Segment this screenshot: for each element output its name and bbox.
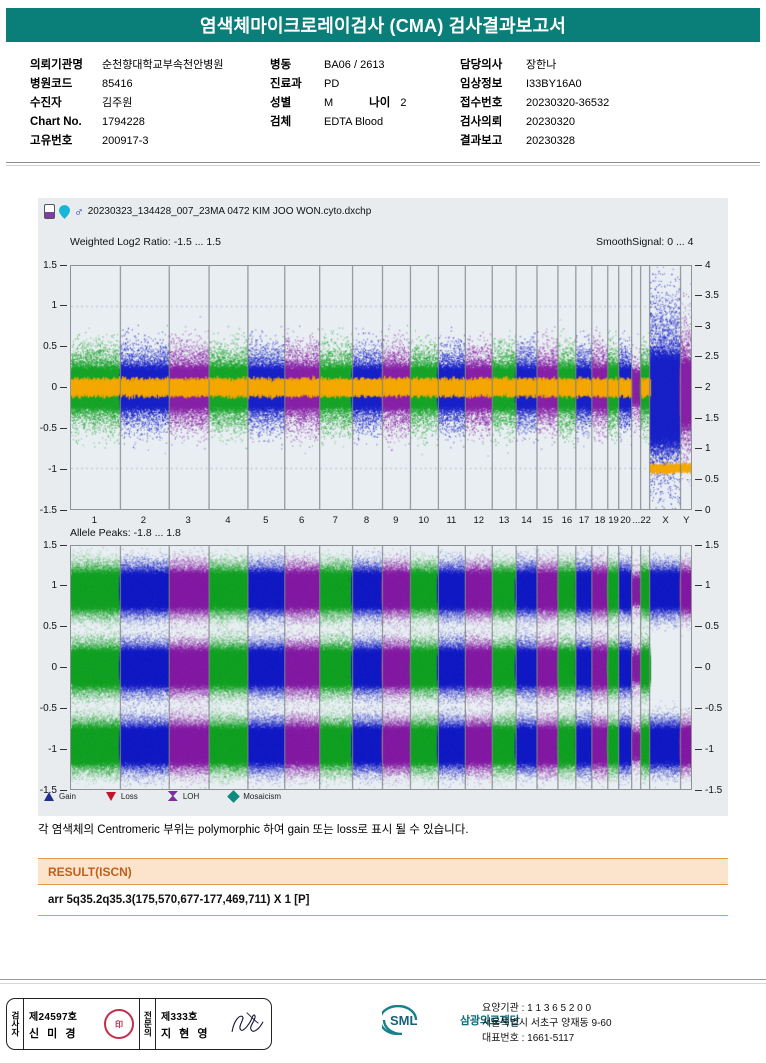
y-axis-tick-left: 1.5 [24, 258, 70, 272]
field-label: Chart No. [30, 113, 102, 132]
y-axis-tick-right: 2.5 [692, 350, 738, 364]
field-value: 김주원 [102, 94, 132, 113]
field-value: 장한나 [526, 56, 556, 75]
y-axis-tick-left: -0.5 [24, 421, 70, 435]
x-axis-tick-chr-3: 3 [174, 515, 202, 526]
field-value: 1794228 [102, 113, 145, 132]
x-axis-tick-chr-2: 2 [129, 515, 157, 526]
x-axis-tick-chr-Y: Y [672, 515, 700, 526]
field-label: 성별 [270, 94, 324, 113]
field-label: 의뢰기관명 [30, 56, 102, 75]
legend-item-loss: Loss [106, 792, 138, 801]
x-axis-tick-chr-12: 12 [465, 515, 493, 526]
header-divider-2 [6, 165, 760, 166]
field-label: 임상정보 [460, 75, 526, 94]
x-axis-tick-chr-11: 11 [437, 515, 465, 526]
field-label: 담당의사 [460, 56, 526, 75]
log2-ratio-canvas [71, 266, 691, 509]
field-value: BA06 / 2613 [324, 56, 385, 75]
address-line: 요양기관 : 1 1 3 6 5 2 0 0 [482, 1001, 612, 1016]
y-axis-tick-left: -0.5 [24, 701, 70, 715]
field-row: 결과보고20230328 [460, 132, 710, 151]
field-label: 병동 [270, 56, 324, 75]
field-label: 병원코드 [30, 75, 102, 94]
y-axis-tick-right: 2 [692, 381, 738, 395]
x-axis-tick-chr-10: 10 [410, 515, 438, 526]
signature-box: 검사자 제24597호 신 미 경 印 전문의 제333호 지 현 영 [6, 998, 272, 1050]
allele-peaks-canvas [71, 546, 691, 789]
y-axis-tick-right: 1 [692, 442, 738, 456]
x-axis-tick-chr-8: 8 [353, 515, 381, 526]
field-value: 200917-3 [102, 132, 149, 151]
field-row: 검사의뢰20230320 [460, 113, 710, 132]
y-axis-tick-left: 0 [24, 381, 70, 395]
company-address-block: 요양기관 : 1 1 3 6 5 2 0 0 서울특별시 서초구 양재동 9-6… [482, 1001, 612, 1046]
legend-label: Mosaicism [243, 792, 281, 801]
y-axis-tick-right: -0.5 [692, 701, 738, 715]
field-row: 수진자김주원 [30, 94, 270, 113]
y-axis-tick-right: -1 [692, 742, 738, 756]
field-row: 병동BA06 / 2613 [270, 56, 460, 75]
location-drop-icon [59, 205, 70, 219]
field-value: 85416 [102, 75, 133, 94]
field-label: 접수번호 [460, 94, 526, 113]
weighted-log2-ratio-plot [70, 265, 692, 510]
patient-col-2: 병동BA06 / 2613 진료과PD 성별 M 나이 2 검체EDTA Blo… [270, 56, 460, 151]
x-axis-tick-chr-5: 5 [252, 515, 280, 526]
field-row: 성별 M 나이 2 [270, 94, 460, 113]
y-axis-tick-left: 1.5 [24, 538, 70, 552]
y-axis-tick-right: 4 [692, 258, 738, 272]
triangle-up-icon [44, 792, 54, 801]
field-label: 수진자 [30, 94, 102, 113]
field-row: 의뢰기관명순천향대학교부속천안병원 [30, 56, 270, 75]
signature-role-specialist: 전문의 [139, 999, 156, 1049]
legend-label: LOH [183, 792, 199, 801]
license-number: 제24597호 [29, 1008, 78, 1023]
field-value: 20230328 [526, 132, 575, 151]
field-row: Chart No.1794228 [30, 113, 270, 132]
y-axis-tick-left: 0.5 [24, 340, 70, 354]
signer-name: 지 현 영 [161, 1025, 210, 1041]
field-row: 임상정보I33BY16A0 [460, 75, 710, 94]
signer-name: 신 미 경 [29, 1025, 78, 1041]
y-axis-tick-right: 0.5 [692, 620, 738, 634]
y-axis-tick-right: 1 [692, 579, 738, 593]
chart2-title: Allele Peaks: -1.8 ... 1.8 [70, 527, 181, 539]
field-row: 담당의사장한나 [460, 56, 710, 75]
field-row: 접수번호20230320-36532 [460, 94, 710, 113]
signature-names: 제333호 지 현 영 [161, 1008, 210, 1041]
signature-role-tester: 검사자 [7, 999, 24, 1049]
address-line: 대표번호 : 1661-5117 [482, 1031, 612, 1046]
field-row: 진료과PD [270, 75, 460, 94]
header-divider [6, 162, 760, 163]
y-axis-tick-left: -1.5 [24, 503, 70, 517]
field-value: EDTA Blood [324, 113, 383, 132]
y-axis-tick-right: -1.5 [692, 783, 738, 797]
patient-col-1: 의뢰기관명순천향대학교부속천안병원 병원코드85416 수진자김주원 Chart… [30, 56, 270, 151]
field-label: 결과보고 [460, 132, 526, 151]
field-label: 고유번호 [30, 132, 102, 151]
page-title: 염색체마이크로레이검사 (CMA) 검사결과보고서 [200, 12, 566, 38]
field-value: 20230320 [526, 113, 575, 132]
chart1-title: Weighted Log2 Ratio: -1.5 ... 1.5 [70, 236, 221, 248]
signature-names: 제24597호 신 미 경 [29, 1008, 78, 1041]
diamond-icon [227, 790, 240, 803]
spacer [270, 132, 460, 151]
age-value: 2 [400, 94, 406, 113]
age-label: 나이 [369, 94, 390, 113]
license-number: 제333호 [161, 1008, 210, 1023]
field-row: 검체EDTA Blood [270, 113, 460, 132]
y-axis-tick-right: 3.5 [692, 289, 738, 303]
field-label: 검체 [270, 113, 324, 132]
y-axis-tick-left: 0.5 [24, 620, 70, 634]
chart1-right-title: SmoothSignal: 0 ... 4 [596, 236, 693, 248]
footer-divider-2 [0, 983, 766, 984]
legend-label: Gain [59, 792, 76, 801]
y-axis-tick-right: 3 [692, 319, 738, 333]
loh-bowtie-icon [168, 791, 178, 801]
y-axis-tick-right: 0 [692, 661, 738, 675]
chart-file-name: 20230323_134428_007_23MA 0472 KIM JOO WO… [88, 206, 372, 217]
x-axis-tick-chr-6: 6 [288, 515, 316, 526]
svg-text:SML: SML [390, 1013, 418, 1028]
legend-item-loh: LOH [168, 791, 199, 801]
report-page: 염색체마이크로레이검사 (CMA) 검사결과보고서 의뢰기관명순천향대학교부속천… [0, 0, 766, 1063]
signature-role-label: 전문의 [143, 1011, 152, 1037]
result-body: arr 5q35.2q35.3(175,570,677-177,469,711)… [38, 884, 728, 916]
field-row: 병원코드85416 [30, 75, 270, 94]
field-label: 진료과 [270, 75, 324, 94]
legend-item-mosaicism: Mosaicism [229, 792, 281, 801]
field-value: 20230320-36532 [526, 94, 609, 113]
sml-mark-icon: SML [382, 1005, 454, 1035]
field-value: PD [324, 75, 339, 94]
y-axis-tick-left: 1 [24, 579, 70, 593]
address-line: 서울특별시 서초구 양재동 9-60 [482, 1016, 612, 1031]
legend-item-gain: Gain [44, 792, 76, 801]
signature-cell-specialist: 제333호 지 현 영 [156, 999, 271, 1049]
y-axis-tick-right: 0.5 [692, 472, 738, 486]
handwritten-signature-icon [228, 1011, 266, 1037]
x-axis-tick-chr-7: 7 [321, 515, 349, 526]
y-axis-tick-left: -1 [24, 742, 70, 756]
x-axis-tick-chr-1: 1 [80, 515, 108, 526]
centromeric-note: 각 염색체의 Centromeric 부위는 polymorphic 하여 ga… [38, 821, 738, 837]
field-value: 순천향대학교부속천안병원 [102, 56, 223, 75]
chart-file-line: ♂ 20230323_134428_007_23MA 0472 KIM JOO … [44, 204, 371, 219]
patient-header: 의뢰기관명순천향대학교부속천안병원 병원코드85416 수진자김주원 Chart… [6, 46, 760, 156]
signature-cell-tester: 제24597호 신 미 경 印 [24, 999, 139, 1049]
report-title-bar: 염색체마이크로레이검사 (CMA) 검사결과보고서 [6, 8, 760, 42]
y-axis-tick-left: -1 [24, 462, 70, 476]
male-symbol-icon: ♂ [74, 205, 84, 218]
legend-label: Loss [121, 792, 138, 801]
field-value: I33BY16A0 [526, 75, 582, 94]
chart-legend: Gain Loss LOH Mosaicism [44, 791, 281, 801]
triangle-down-icon [106, 792, 116, 801]
y-axis-tick-right: 1.5 [692, 411, 738, 425]
signature-role-label: 검사자 [11, 1011, 20, 1037]
y-axis-tick-left: 1 [24, 299, 70, 313]
allele-peaks-plot [70, 545, 692, 790]
result-header: RESULT(ISCN) [38, 858, 728, 884]
y-axis-tick-left: 0 [24, 661, 70, 675]
field-label: 검사의뢰 [460, 113, 526, 132]
field-row: 고유번호200917-3 [30, 132, 270, 151]
x-axis-tick-chr-4: 4 [214, 515, 242, 526]
patient-col-3: 담당의사장한나 임상정보I33BY16A0 접수번호20230320-36532… [460, 56, 710, 151]
x-axis-tick-chr-9: 9 [382, 515, 410, 526]
y-axis-tick-right: 1.5 [692, 538, 738, 552]
result-iscn-value: arr 5q35.2q35.3(175,570,677-177,469,711)… [48, 894, 310, 906]
official-seal-icon: 印 [104, 1009, 134, 1039]
result-header-label: RESULT(ISCN) [48, 865, 132, 879]
sample-vial-icon [44, 204, 55, 219]
field-value: M [324, 94, 333, 113]
footer-divider [0, 979, 766, 980]
seal-text: 印 [115, 1020, 123, 1028]
